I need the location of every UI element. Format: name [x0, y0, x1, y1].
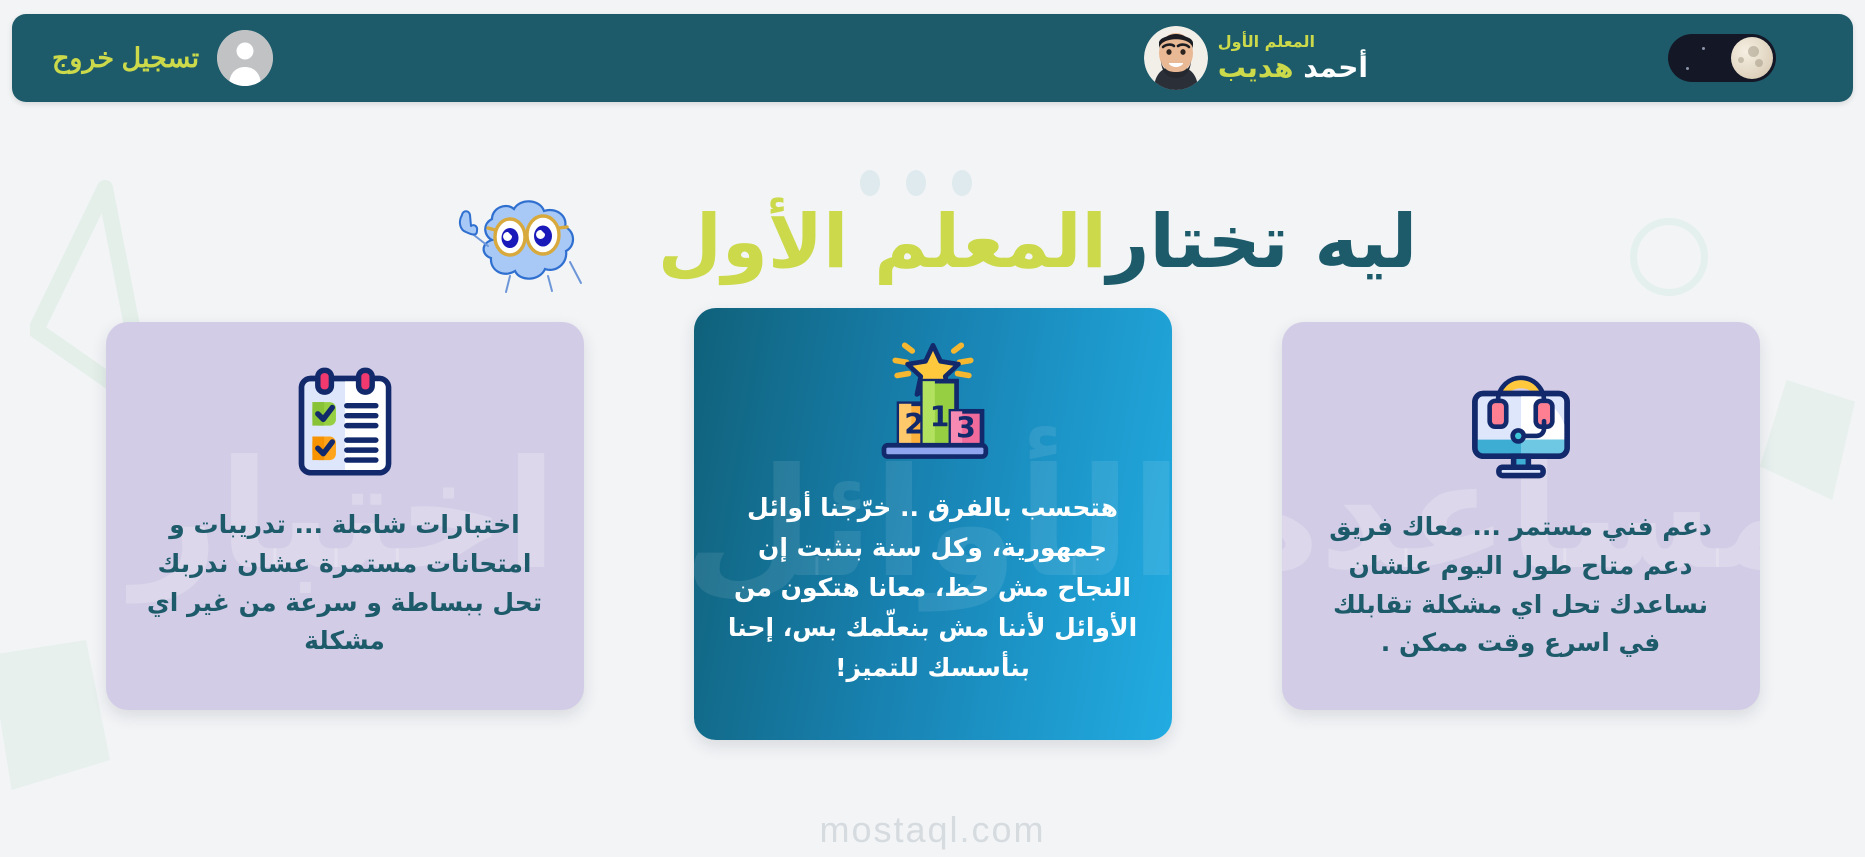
feature-card-exams[interactable]: اختبار اختبارات شاملة ... تدريبات	[106, 322, 584, 710]
brand-text: المعلم الأول أحمد هديب	[1218, 34, 1368, 82]
title-underline	[674, 232, 894, 310]
moon-icon	[1731, 37, 1773, 79]
star-decor-icon	[1686, 67, 1689, 70]
feature-card-excellence[interactable]: الأوائل 2 1 3 هتحسب بالفرق .. خرّجنا	[694, 308, 1172, 740]
brand-name-last: هديب	[1218, 51, 1294, 84]
logout-button[interactable]: تسجيل خروج	[52, 30, 273, 86]
page-watermark: mostaql.com	[0, 809, 1865, 851]
brand-kicker: المعلم الأول	[1218, 34, 1315, 50]
cloud-character-icon	[448, 188, 600, 298]
monitor-headset-icon	[1316, 364, 1726, 482]
podium-star-icon: 2 1 3	[728, 338, 1138, 462]
page-title-part-dark: ليه تختار	[1107, 199, 1417, 285]
card-text: هتحسب بالفرق .. خرّجنا أوائل جمهورية، وك…	[728, 488, 1138, 688]
dark-mode-toggle[interactable]	[1668, 34, 1776, 82]
page-heading: ليه تختارالمعلم الأول	[0, 188, 1865, 298]
clipboard-checklist-icon	[140, 364, 550, 480]
page-title: ليه تختارالمعلم الأول	[658, 204, 1418, 282]
top-navigation-bar: المعلم الأول أحمد هديب	[12, 14, 1853, 102]
svg-text:2: 2	[904, 408, 924, 441]
feature-card-support[interactable]: مساعدة دعم فني مستمر ... معاك فريق دعم م…	[1282, 322, 1760, 710]
user-avatar-icon	[217, 30, 273, 86]
feature-cards: مساعدة دعم فني مستمر ... معاك فريق دعم م…	[0, 322, 1865, 742]
star-decor-icon	[1702, 47, 1705, 50]
svg-text:1: 1	[929, 400, 949, 433]
brand-name-first: أحمد	[1303, 51, 1368, 84]
brand-logo[interactable]: المعلم الأول أحمد هديب	[1144, 26, 1368, 90]
teacher-photo-avatar	[1144, 26, 1208, 90]
svg-text:3: 3	[956, 412, 976, 445]
brand-name: أحمد هديب	[1218, 54, 1368, 82]
card-text: دعم فني مستمر ... معاك فريق دعم متاح طول…	[1316, 508, 1726, 663]
card-text: اختبارات شاملة ... تدريبات و امتحانات مس…	[140, 506, 550, 661]
logout-label: تسجيل خروج	[52, 43, 199, 74]
